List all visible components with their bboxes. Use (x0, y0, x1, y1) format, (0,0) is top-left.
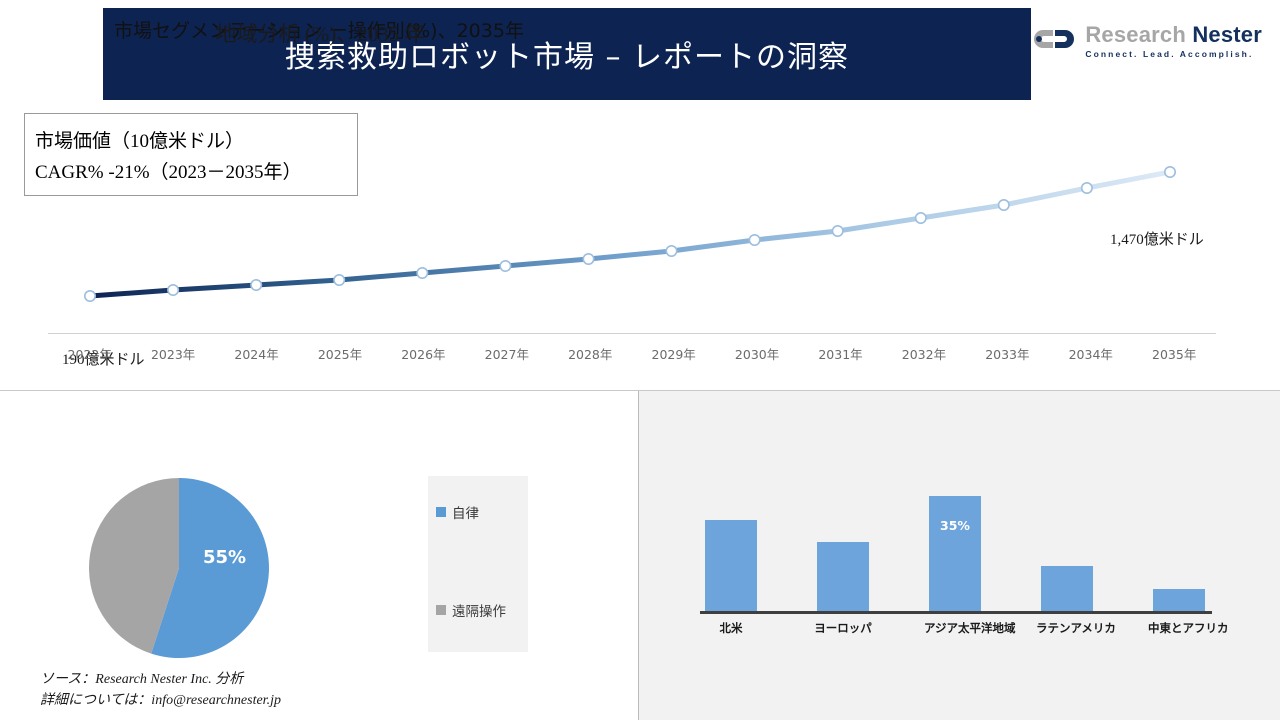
pie-legend-label: 遠隔操作 (452, 600, 506, 620)
x-axis-tick-label: 2031年 (799, 344, 882, 363)
line-marker (251, 280, 261, 290)
x-axis-tick-label: 2024年 (215, 344, 298, 363)
logo-tagline: Connect. Lead. Accomplish. (1085, 50, 1262, 59)
x-axis-tick-label: 2033年 (966, 344, 1049, 363)
regional-bar-chart: 35% (700, 470, 1210, 612)
pie-legend: 自律遠隔操作 (428, 476, 528, 652)
x-axis-tick-label: 2030年 (715, 344, 798, 363)
line-chart-svg (0, 100, 1280, 380)
line-marker (999, 200, 1009, 210)
bar-column (1036, 566, 1098, 612)
logo-name-research: Research (1085, 22, 1186, 47)
bar (817, 542, 869, 612)
bar-column (1148, 589, 1210, 612)
infographic-root: 捜索救助ロボット市場 – レポートの洞察 Research Nester Con… (0, 0, 1280, 720)
interlocking-links-icon (1033, 26, 1077, 56)
brand-logo: Research Nester Connect. Lead. Accomplis… (1033, 24, 1262, 59)
bar-category-label: ヨーロッパ (812, 620, 874, 636)
x-axis-tick-label: 2023年 (131, 344, 214, 363)
line-marker (583, 254, 593, 264)
x-axis-tick-label: 2027年 (465, 344, 548, 363)
pie-value-label: 55% (203, 547, 246, 568)
line-marker (500, 261, 510, 271)
bar-category-label: 中東とアフリカ (1148, 620, 1210, 636)
x-axis-labels: 2022年2023年2024年2025年2026年2027年2028年2029年… (48, 344, 1216, 363)
bar-column (812, 542, 874, 612)
segmentation-pie-chart (88, 477, 270, 659)
line-marker (168, 285, 178, 295)
x-axis-tick-label: 2022年 (48, 344, 131, 363)
line-markers (85, 167, 1175, 301)
bar-value-label: 35% (929, 518, 981, 533)
bar-category-label: ラテンアメリカ (1036, 620, 1098, 636)
line-marker (334, 275, 344, 285)
bar-category-label: アジア太平洋地域 (924, 620, 986, 636)
pie-legend-item: 遠隔操作 (428, 600, 528, 620)
pie-legend-item: 自律 (428, 502, 528, 522)
x-axis-tick-label: 2035年 (1132, 344, 1215, 363)
line-marker (1165, 167, 1175, 177)
line-marker (749, 235, 759, 245)
line-marker (85, 291, 95, 301)
x-axis-tick-label: 2028年 (549, 344, 632, 363)
source-line-1: ソース：Research Nester Inc. 分析 (40, 669, 281, 690)
legend-swatch-icon (436, 507, 446, 517)
bar-category-labels: 北米ヨーロッパアジア太平洋地域ラテンアメリカ中東とアフリカ (700, 620, 1210, 636)
market-value-line-chart: 190億米ドル 1,470億米ドル (0, 100, 1280, 380)
pie-svg (88, 477, 270, 659)
x-axis-line (48, 333, 1216, 334)
logo-name-nester: Nester (1192, 22, 1262, 47)
line-series (90, 172, 1170, 296)
bar: 35% (929, 496, 981, 612)
x-axis-tick-label: 2026年 (382, 344, 465, 363)
legend-swatch-icon (436, 605, 446, 615)
line-marker (417, 268, 427, 278)
bar-column (700, 520, 762, 612)
x-axis-tick-label: 2029年 (632, 344, 715, 363)
bar (1153, 589, 1205, 612)
source-line-2: 詳細については：info@researchnester.jp (40, 690, 281, 711)
end-value-label: 1,470億米ドル (1110, 228, 1204, 249)
logo-text: Research Nester Connect. Lead. Accomplis… (1085, 24, 1262, 59)
bar-column: 35% (924, 496, 986, 612)
x-axis-tick-label: 2025年 (298, 344, 381, 363)
bar-chart-baseline (700, 611, 1212, 614)
line-marker (916, 213, 926, 223)
bar (705, 520, 757, 612)
x-axis-tick-label: 2034年 (1049, 344, 1132, 363)
source-note: ソース：Research Nester Inc. 分析 詳細については：info… (40, 669, 281, 711)
regional-title: 地域分析 (%)、2035 年 (0, 18, 641, 48)
bar (1041, 566, 1093, 612)
logo-name: Research Nester (1085, 24, 1262, 46)
line-marker (833, 226, 843, 236)
x-axis-tick-label: 2032年 (882, 344, 965, 363)
line-marker (666, 246, 676, 256)
bar-category-label: 北米 (700, 620, 762, 636)
pie-legend-label: 自律 (452, 502, 479, 522)
line-marker (1082, 183, 1092, 193)
